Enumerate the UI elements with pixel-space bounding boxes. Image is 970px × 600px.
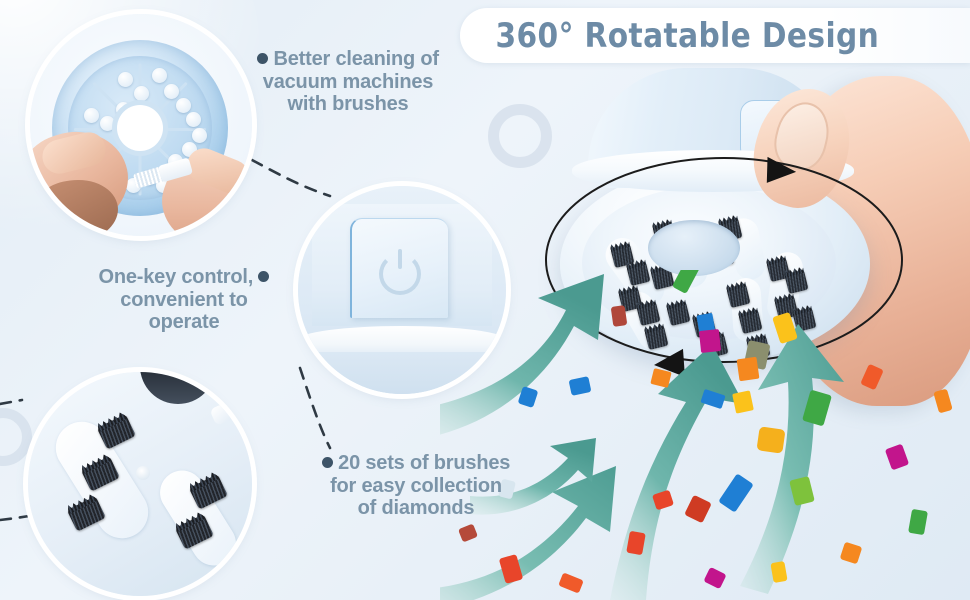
bullet-icon bbox=[322, 457, 333, 468]
inset-brush-tufts-macro bbox=[28, 372, 252, 596]
callout-line: with brushes bbox=[236, 93, 460, 116]
callout-line: One-key control, bbox=[99, 266, 254, 288]
disc-center-hole bbox=[117, 105, 163, 151]
callout-line: vacuum machines bbox=[236, 71, 460, 94]
power-icon bbox=[379, 253, 421, 295]
callout-line: 20 sets of brushes bbox=[338, 452, 510, 474]
callout-brush-sets: 20 sets of brushes for easy collection o… bbox=[296, 452, 536, 520]
callout-one-key-control: One-key control, convenient to operate bbox=[76, 266, 292, 334]
callout-line: of diamonds bbox=[296, 497, 536, 520]
callout-line: Better cleaning of bbox=[274, 48, 439, 70]
title-banner: 360° Rotatable Design bbox=[460, 8, 970, 63]
page-title: 360° Rotatable Design bbox=[466, 16, 879, 56]
inset-disc-cleaning bbox=[30, 14, 252, 236]
callout-better-cleaning: Better cleaning of vacuum machines with … bbox=[236, 48, 460, 116]
bullet-icon bbox=[258, 271, 269, 282]
callout-line: for easy collection bbox=[296, 475, 536, 498]
confetti-on-device bbox=[640, 300, 820, 480]
bullet-icon bbox=[257, 53, 268, 64]
pad-dimple bbox=[136, 466, 150, 480]
callout-line: operate bbox=[76, 311, 292, 334]
callout-line: convenient to bbox=[76, 289, 292, 312]
power-button[interactable] bbox=[350, 218, 448, 318]
marketing-banner-stage: 360° Rotatable Design Better cleaning of… bbox=[0, 0, 970, 600]
